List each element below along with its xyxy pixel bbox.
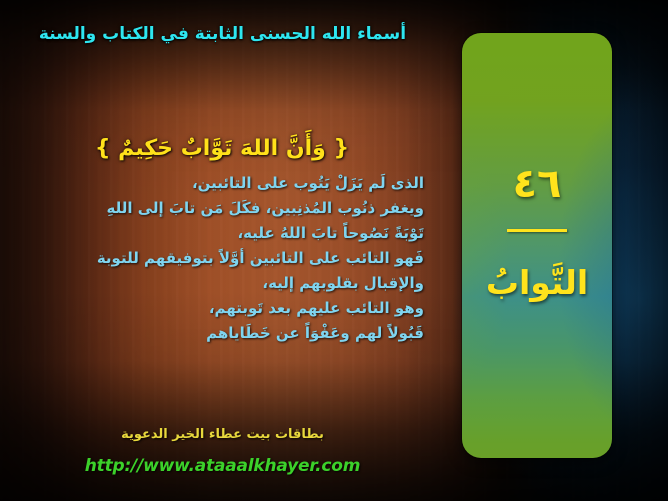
name-number: ٤٦ [462,161,612,207]
footer: بطاقات بيت عطاء الخير الدعوية http://www… [0,427,445,476]
footer-website-url[interactable]: http://www.ataaalkhayer.com [0,456,445,476]
explanation-line: الذى لَم يَزَلْ يَتُوب على التائبين، [16,171,424,196]
explanation-line: تَوْبَةً نَصُوحاً تابَ اللهُ عليه، [16,221,424,246]
footer-credit: بطاقات بيت عطاء الخير الدعوية [0,427,445,442]
slide-card: أسماء الله الحسنى الثابتة في الكتاب والس… [0,0,668,501]
explanation-text: الذى لَم يَزَلْ يَتُوب على التائبين، ويغ… [16,171,428,346]
explanation-line: وهو التائب عليهم بعد تَوبتهم، [16,296,424,321]
explanation-line: فَهو التائب على التائبين أوَّلاً بتوفيقه… [16,246,424,271]
page-title: أسماء الله الحسنى الثابتة في الكتاب والس… [0,24,445,44]
divine-name: التَّوابُ [462,263,612,302]
explanation-line: والإقبال بقلوبهم إليه، [16,271,424,296]
panel-dither-texture [462,33,612,458]
verse-block: { وَأَنَّ اللهَ تَوَّابٌ حَكِيمٌ } الذى … [16,132,428,346]
divine-name-panel: ٤٦ التَّوابُ [462,33,612,458]
explanation-line: ويغفر ذنُوب المُذنِبين، فكَلَ مَن تابَ إ… [16,196,424,221]
panel-divider-rule [507,229,567,232]
quran-verse: { وَأَنَّ اللهَ تَوَّابٌ حَكِيمٌ } [16,132,428,165]
explanation-line: قَبُولاً لهم وعَفْوَاً عن خَطَاياهم [16,321,424,346]
